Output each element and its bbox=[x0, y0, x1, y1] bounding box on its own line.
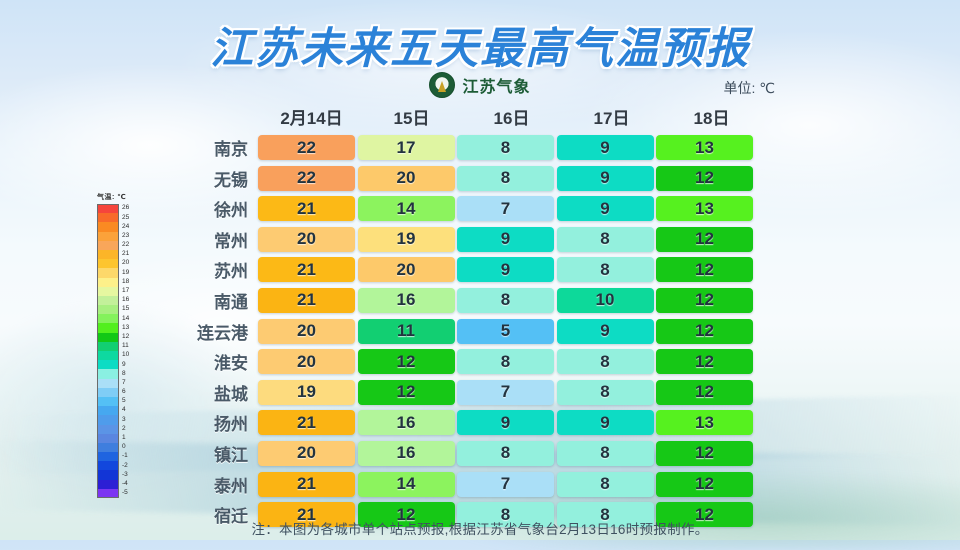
legend-label: 0 bbox=[122, 444, 126, 451]
legend-stop: 11 bbox=[97, 342, 137, 351]
city-label: 盐城 bbox=[180, 380, 258, 405]
temperature-cell: 21 bbox=[258, 472, 355, 497]
jiangsu-meteorology-logo-icon bbox=[429, 72, 455, 98]
temperature-cell: 12 bbox=[656, 319, 753, 344]
temperature-cell: 19 bbox=[258, 380, 355, 405]
temperature-cell: 8 bbox=[457, 349, 554, 374]
legend-swatch bbox=[97, 443, 119, 452]
temperature-cell: 8 bbox=[557, 349, 654, 374]
legend-label: -3 bbox=[122, 472, 128, 479]
temperature-cell: 9 bbox=[457, 257, 554, 282]
table-column-headers: 2月14日15日16日17日18日 bbox=[262, 104, 780, 129]
legend-label: 4 bbox=[122, 407, 126, 414]
temperature-cell: 8 bbox=[557, 441, 654, 466]
temperature-cell: 14 bbox=[358, 196, 455, 221]
legend-swatch bbox=[97, 470, 119, 479]
legend-stop: -2 bbox=[97, 461, 137, 470]
legend-label: 21 bbox=[122, 251, 129, 258]
legend-swatch bbox=[97, 296, 119, 305]
temperature-cell: 16 bbox=[358, 288, 455, 313]
temperature-cell: 12 bbox=[656, 349, 753, 374]
legend-label: 24 bbox=[122, 224, 129, 231]
legend-swatch bbox=[97, 452, 119, 461]
legend-stop: -5 bbox=[97, 489, 137, 498]
legend-label: 3 bbox=[122, 417, 126, 424]
temperature-cell: 12 bbox=[656, 288, 753, 313]
legend-swatch bbox=[97, 397, 119, 406]
temperature-cell: 12 bbox=[656, 227, 753, 252]
temperature-cell: 20 bbox=[358, 166, 455, 191]
temperature-cell: 5 bbox=[457, 319, 554, 344]
temperature-cell: 13 bbox=[656, 135, 753, 160]
temperature-cell: 9 bbox=[557, 135, 654, 160]
legend-swatch bbox=[97, 333, 119, 342]
page-title: 江苏未来五天最高气温预报 bbox=[0, 14, 960, 76]
temperature-cell: 20 bbox=[358, 257, 455, 282]
legend-label: -5 bbox=[122, 490, 128, 497]
unit-label: 单位: ℃ bbox=[723, 78, 775, 98]
legend-label: 19 bbox=[122, 270, 129, 277]
temperature-cell: 12 bbox=[656, 472, 753, 497]
temperature-cell: 12 bbox=[656, 380, 753, 405]
legend-label: 16 bbox=[122, 297, 129, 304]
legend-stop: 7 bbox=[97, 379, 137, 388]
legend-label: 8 bbox=[122, 371, 126, 378]
legend-swatch bbox=[97, 342, 119, 351]
legend-stop: 1 bbox=[97, 434, 137, 443]
table-row: 盐城19127812 bbox=[180, 378, 780, 407]
legend-swatch bbox=[97, 204, 119, 213]
forecast-table: 2月14日15日16日17日18日 南京22178913无锡22208912徐州… bbox=[180, 104, 780, 531]
legend-swatch bbox=[97, 213, 119, 222]
legend-swatch bbox=[97, 268, 119, 277]
legend-label: 22 bbox=[122, 242, 129, 249]
legend-swatch bbox=[97, 314, 119, 323]
legend-label: 12 bbox=[122, 334, 129, 341]
city-label: 苏州 bbox=[180, 257, 258, 282]
table-row: 无锡22208912 bbox=[180, 164, 780, 193]
legend-stop: 21 bbox=[97, 250, 137, 259]
legend-stop: 25 bbox=[97, 213, 137, 222]
temperature-cell: 22 bbox=[258, 135, 355, 160]
temperature-cell: 9 bbox=[557, 166, 654, 191]
city-label: 连云港 bbox=[180, 319, 258, 344]
legend-label: 14 bbox=[122, 316, 129, 323]
legend-label: -2 bbox=[122, 463, 128, 470]
legend-stop: 15 bbox=[97, 305, 137, 314]
temperature-cell: 12 bbox=[358, 349, 455, 374]
legend-stop: 16 bbox=[97, 296, 137, 305]
table-row: 常州20199812 bbox=[180, 225, 780, 254]
temperature-cell: 20 bbox=[258, 227, 355, 252]
legend-swatch bbox=[97, 259, 119, 268]
temperature-cell: 13 bbox=[656, 196, 753, 221]
table-row: 扬州21169913 bbox=[180, 408, 780, 437]
legend-label: 2 bbox=[122, 426, 126, 433]
legend-label: 26 bbox=[122, 205, 129, 212]
legend-label: 15 bbox=[122, 306, 129, 313]
legend-label: 5 bbox=[122, 398, 126, 405]
temperature-cell: 9 bbox=[457, 410, 554, 435]
temperature-cell: 8 bbox=[457, 288, 554, 313]
legend-label: 7 bbox=[122, 380, 126, 387]
legend-label: 18 bbox=[122, 279, 129, 286]
column-header-day-4: 17日 bbox=[562, 104, 661, 129]
legend-stop: 9 bbox=[97, 360, 137, 369]
legend-stop: 13 bbox=[97, 323, 137, 332]
temperature-cell: 9 bbox=[457, 227, 554, 252]
table-row: 泰州21147812 bbox=[180, 470, 780, 499]
legend-stop: 4 bbox=[97, 406, 137, 415]
city-label: 泰州 bbox=[180, 472, 258, 497]
legend-swatch bbox=[97, 425, 119, 434]
legend-scale: 2625242322212019181716151413121110987654… bbox=[97, 204, 137, 498]
legend-stop: 2 bbox=[97, 425, 137, 434]
legend-label: 20 bbox=[122, 260, 129, 267]
column-header-day-1: 2月14日 bbox=[262, 104, 361, 129]
city-label: 淮安 bbox=[180, 349, 258, 374]
temperature-cell: 8 bbox=[457, 135, 554, 160]
legend-stop: 6 bbox=[97, 388, 137, 397]
column-header-day-2: 15日 bbox=[362, 104, 461, 129]
temperature-cell: 12 bbox=[656, 166, 753, 191]
temperature-cell: 21 bbox=[258, 288, 355, 313]
legend-stop: 19 bbox=[97, 268, 137, 277]
temperature-cell: 21 bbox=[258, 410, 355, 435]
temperature-cell: 9 bbox=[557, 196, 654, 221]
legend-stop: 22 bbox=[97, 241, 137, 250]
brand-label: 江苏气象 bbox=[462, 73, 530, 97]
legend-swatch bbox=[97, 232, 119, 241]
temperature-cell: 11 bbox=[358, 319, 455, 344]
legend-label: 9 bbox=[122, 362, 126, 369]
table-row: 徐州21147913 bbox=[180, 194, 780, 223]
legend-title: 气温: ℃ bbox=[97, 192, 141, 202]
legend-swatch bbox=[97, 222, 119, 231]
temperature-cell: 17 bbox=[358, 135, 455, 160]
legend-stop: 14 bbox=[97, 314, 137, 323]
table-row: 连云港20115912 bbox=[180, 317, 780, 346]
legend-stop: 18 bbox=[97, 278, 137, 287]
legend-swatch bbox=[97, 489, 119, 498]
legend-label: 6 bbox=[122, 389, 126, 396]
legend-swatch bbox=[97, 461, 119, 470]
legend-swatch bbox=[97, 434, 119, 443]
legend-swatch bbox=[97, 287, 119, 296]
column-header-day-3: 16日 bbox=[462, 104, 561, 129]
temperature-cell: 20 bbox=[258, 441, 355, 466]
temperature-cell: 12 bbox=[656, 441, 753, 466]
legend-stop: 10 bbox=[97, 351, 137, 360]
legend-stop: 0 bbox=[97, 443, 137, 452]
legend-label: 23 bbox=[122, 233, 129, 240]
legend-swatch bbox=[97, 415, 119, 424]
temperature-cell: 8 bbox=[557, 380, 654, 405]
legend-stop: -3 bbox=[97, 470, 137, 479]
temperature-cell: 16 bbox=[358, 441, 455, 466]
table-row: 南通211681012 bbox=[180, 286, 780, 315]
temperature-cell: 12 bbox=[656, 257, 753, 282]
legend-stop: 20 bbox=[97, 259, 137, 268]
temperature-cell: 20 bbox=[258, 319, 355, 344]
city-label: 徐州 bbox=[180, 196, 258, 221]
legend-label: 13 bbox=[122, 325, 129, 332]
legend-stop: 26 bbox=[97, 204, 137, 213]
legend-swatch bbox=[97, 406, 119, 415]
legend-swatch bbox=[97, 388, 119, 397]
temperature-cell: 12 bbox=[358, 380, 455, 405]
legend-label: 10 bbox=[122, 352, 129, 359]
temperature-cell: 8 bbox=[457, 441, 554, 466]
city-label: 南京 bbox=[180, 135, 258, 160]
city-label: 无锡 bbox=[180, 166, 258, 191]
legend-label: -4 bbox=[122, 481, 128, 488]
legend-label: 17 bbox=[122, 288, 129, 295]
legend-stop: 3 bbox=[97, 415, 137, 424]
legend-label: 25 bbox=[122, 215, 129, 222]
legend-label: 11 bbox=[122, 343, 129, 350]
legend-stop: 17 bbox=[97, 287, 137, 296]
city-label: 南通 bbox=[180, 288, 258, 313]
legend-stop: 8 bbox=[97, 369, 137, 378]
temperature-cell: 21 bbox=[258, 257, 355, 282]
temperature-cell: 22 bbox=[258, 166, 355, 191]
table-row: 镇江20168812 bbox=[180, 439, 780, 468]
table-body: 南京22178913无锡22208912徐州21147913常州20199812… bbox=[180, 133, 780, 529]
legend-swatch bbox=[97, 379, 119, 388]
column-header-day-5: 18日 bbox=[662, 104, 761, 129]
brand-lockup: 江苏气象 bbox=[0, 72, 960, 98]
temperature-cell: 8 bbox=[557, 227, 654, 252]
legend-swatch bbox=[97, 278, 119, 287]
temperature-cell: 8 bbox=[457, 166, 554, 191]
legend-swatch bbox=[97, 241, 119, 250]
temperature-cell: 14 bbox=[358, 472, 455, 497]
temperature-cell: 8 bbox=[557, 257, 654, 282]
city-label: 扬州 bbox=[180, 410, 258, 435]
legend-label: -1 bbox=[122, 453, 128, 460]
legend-stop: -1 bbox=[97, 452, 137, 461]
temperature-cell: 21 bbox=[258, 196, 355, 221]
legend-swatch bbox=[97, 305, 119, 314]
table-row: 南京22178913 bbox=[180, 133, 780, 162]
footnote: 注：本图为各城市单个站点预报,根据江苏省气象台2月13日16时预报制作。 bbox=[0, 518, 960, 538]
temperature-color-legend: 气温: ℃ 2625242322212019181716151413121110… bbox=[97, 192, 141, 498]
legend-swatch bbox=[97, 323, 119, 332]
legend-swatch bbox=[97, 369, 119, 378]
legend-stop: 12 bbox=[97, 333, 137, 342]
legend-swatch bbox=[97, 250, 119, 259]
temperature-cell: 9 bbox=[557, 319, 654, 344]
legend-stop: 24 bbox=[97, 222, 137, 231]
temperature-cell: 7 bbox=[457, 380, 554, 405]
table-row: 苏州21209812 bbox=[180, 255, 780, 284]
temperature-cell: 20 bbox=[258, 349, 355, 374]
table-row: 淮安20128812 bbox=[180, 347, 780, 376]
temperature-cell: 19 bbox=[358, 227, 455, 252]
temperature-cell: 9 bbox=[557, 410, 654, 435]
legend-stop: 5 bbox=[97, 397, 137, 406]
city-label: 常州 bbox=[180, 227, 258, 252]
temperature-cell: 13 bbox=[656, 410, 753, 435]
legend-label: 1 bbox=[122, 435, 126, 442]
legend-stop: 23 bbox=[97, 232, 137, 241]
temperature-cell: 10 bbox=[557, 288, 654, 313]
legend-swatch bbox=[97, 351, 119, 360]
legend-stop: -4 bbox=[97, 480, 137, 489]
temperature-cell: 7 bbox=[457, 472, 554, 497]
temperature-cell: 7 bbox=[457, 196, 554, 221]
legend-swatch bbox=[97, 360, 119, 369]
temperature-cell: 8 bbox=[557, 472, 654, 497]
legend-swatch bbox=[97, 480, 119, 489]
temperature-cell: 16 bbox=[358, 410, 455, 435]
city-label: 镇江 bbox=[180, 441, 258, 466]
